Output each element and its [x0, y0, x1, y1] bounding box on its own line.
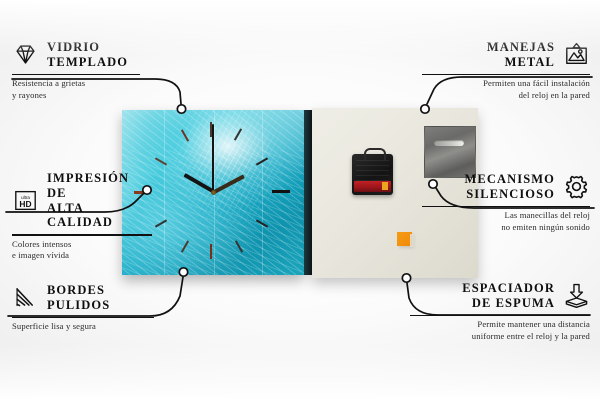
feature-header: MANEJAS METAL [422, 40, 590, 70]
feature-espaciador-de-espuma: ESPACIADOR DE ESPUMA Permite mantener un… [410, 281, 590, 342]
divider [422, 74, 590, 76]
feature-header: VIDRIO TEMPLADO [12, 40, 140, 70]
picture-hanger-icon [563, 41, 590, 68]
feature-title: VIDRIO TEMPLADO [47, 40, 128, 70]
clock-center-pivot [211, 190, 216, 195]
clock-tick [234, 128, 242, 140]
infographic-canvas: VIDRIO TEMPLADO Resistencia a grietas y … [0, 0, 600, 400]
divider [12, 317, 154, 319]
feature-bordes-pulidos: BORDES PULIDOS Superficie lisa y segura [12, 283, 154, 333]
glass-seam [164, 110, 165, 275]
feature-title: MECANISMO SILENCIOSO [465, 172, 555, 202]
feature-description: Resistencia a grietas y rayones [12, 78, 140, 101]
clock-tick [155, 219, 167, 227]
diamond-icon [12, 41, 39, 68]
feature-title: MANEJAS METAL [487, 40, 555, 70]
svg-text:HD: HD [19, 199, 31, 209]
clock-side-edge [304, 110, 312, 275]
gear-icon [563, 173, 590, 200]
clock-tick [272, 190, 290, 193]
foam-spacer-pad [397, 232, 412, 246]
clock-tick [235, 240, 243, 252]
feature-header: BORDES PULIDOS [12, 283, 154, 313]
feature-description: Permite mantener una distancia uniforme … [410, 319, 590, 342]
feature-header: ultra HD IMPRESIÓN DE ALTA CALIDAD [12, 171, 152, 230]
divider [12, 234, 152, 236]
ultra-hd-icon: ultra HD [12, 187, 39, 214]
feature-title: BORDES PULIDOS [47, 283, 110, 313]
divider [12, 74, 140, 76]
mechanism-hook [364, 148, 386, 160]
feature-description: Colores intensos e imagen vívida [12, 239, 152, 262]
hanger-slot [434, 140, 464, 146]
foam-spacer-icon [563, 282, 590, 309]
feature-mecanismo-silencioso: MECANISMO SILENCIOSO Las manecillas del … [422, 172, 590, 233]
feature-title: IMPRESIÓN DE ALTA CALIDAD [47, 171, 152, 230]
divider [410, 315, 590, 317]
feature-title: ESPACIADOR DE ESPUMA [462, 281, 555, 311]
clock-mechanism [352, 154, 393, 195]
feature-description: Superficie lisa y segura [12, 321, 154, 333]
clock-second-hand [213, 174, 245, 193]
feature-manejas-metal: MANEJAS METAL Permiten una fácil instala… [422, 40, 590, 101]
feature-header: ESPACIADOR DE ESPUMA [410, 281, 590, 311]
clock-tick [181, 129, 189, 141]
battery [354, 181, 391, 192]
polished-edge-icon [12, 284, 39, 311]
clock-hour-hand [183, 173, 214, 193]
feature-vidrio-templado: VIDRIO TEMPLADO Resistencia a grietas y … [12, 40, 140, 101]
feature-impresion-alta-calidad: ultra HD IMPRESIÓN DE ALTA CALIDAD Color… [12, 171, 152, 262]
clock-tick [210, 244, 212, 259]
glass-seam [262, 110, 263, 275]
metal-hanger-plate [424, 126, 476, 178]
feature-description: Las manecillas del reloj no emiten ningú… [422, 210, 590, 233]
clock-tick [155, 157, 167, 165]
feature-header: MECANISMO SILENCIOSO [422, 172, 590, 202]
feature-description: Permiten una fácil instalación del reloj… [422, 78, 590, 101]
mechanism-texture [356, 160, 389, 182]
clock-tick [181, 240, 189, 252]
divider [422, 206, 590, 208]
